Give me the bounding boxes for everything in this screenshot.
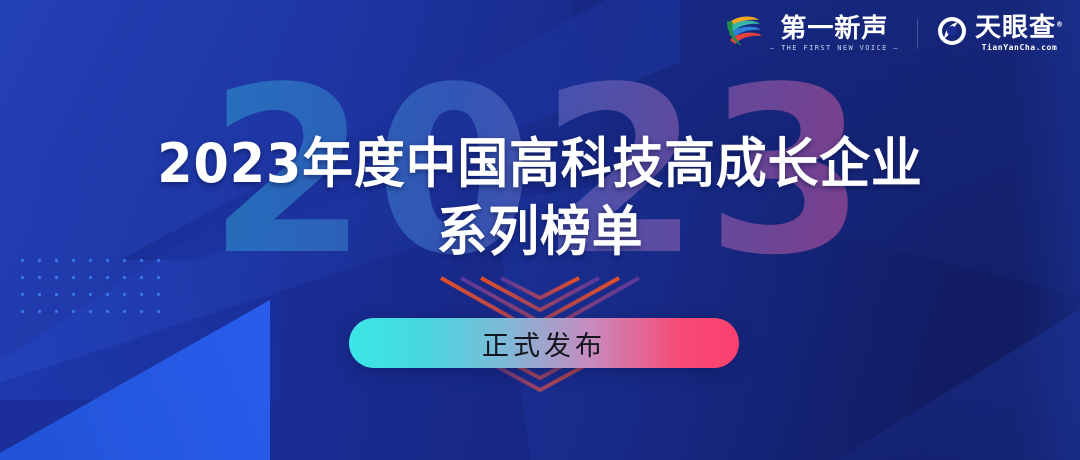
- title-line-1: 2023年度中国高科技高成长企业: [32, 130, 1047, 198]
- release-button-label: 正式发布: [482, 324, 606, 363]
- page-title: 2023年度中国高科技高成长企业 系列榜单: [0, 130, 1080, 266]
- promo-banner: 2023: [0, 0, 1080, 460]
- background-facet-bottom-left: [0, 300, 270, 460]
- logo-tianyancha-en: TianYanCha.com: [982, 44, 1058, 52]
- title-line-2: 系列榜单: [32, 198, 1047, 266]
- logo-first-new-voice[interactable]: 第一新声 — THE FIRST NEW VOICE —: [725, 14, 899, 53]
- logo-tianyancha[interactable]: 天眼查® TianYanCha.com: [936, 15, 1064, 52]
- swoosh-ribbon-icon: [725, 14, 763, 53]
- logo-divider: [917, 19, 918, 49]
- logo-tianyancha-cn-text: 天眼查: [975, 13, 1056, 43]
- logo-first-new-voice-en: — THE FIRST NEW VOICE —: [770, 45, 899, 52]
- logo-first-new-voice-cn: 第一新声: [780, 16, 888, 42]
- aperture-eye-icon: [936, 15, 968, 52]
- release-button[interactable]: 正式发布: [349, 318, 739, 368]
- trademark-mark: ®: [1056, 20, 1064, 28]
- logo-bar: 第一新声 — THE FIRST NEW VOICE — 天眼查® TianYa…: [725, 14, 1064, 53]
- logo-tianyancha-cn: 天眼查®: [975, 15, 1064, 41]
